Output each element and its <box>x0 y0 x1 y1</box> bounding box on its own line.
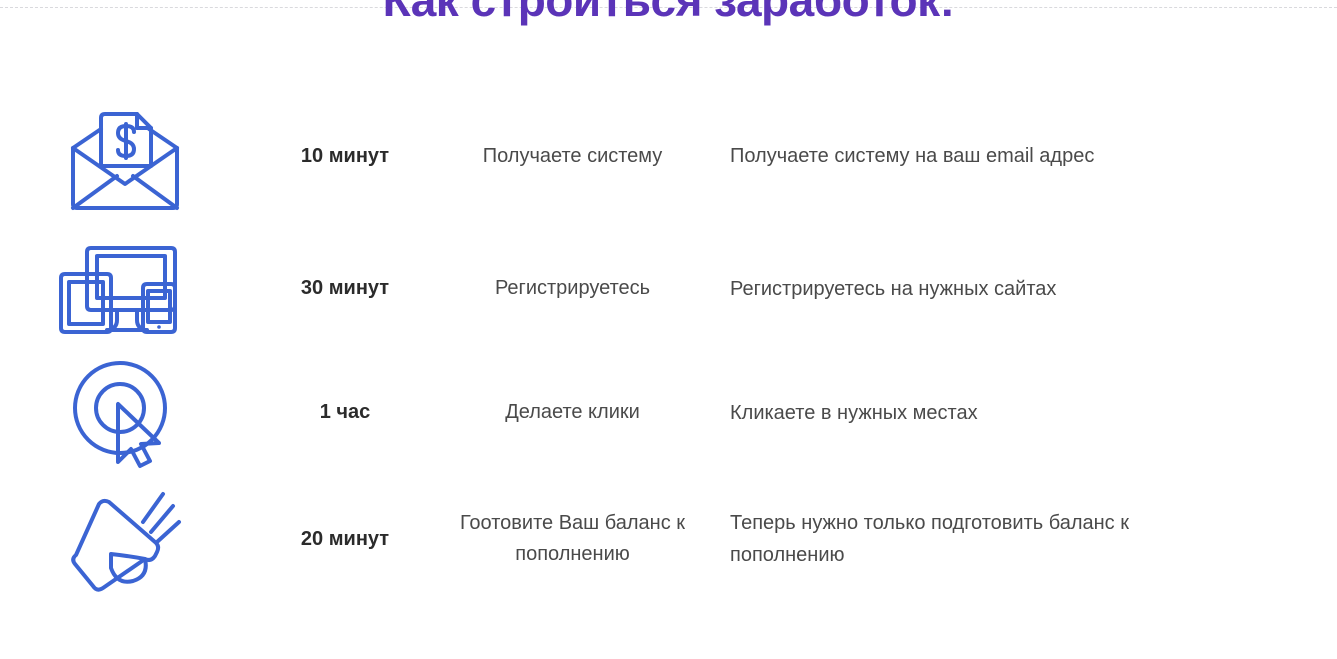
step-row: 30 минут Регистрируетесь Регистрируетесь… <box>0 226 1337 351</box>
step-description: Получаете систему на ваш email адрес <box>705 140 1337 172</box>
step-duration: 30 минут <box>250 275 440 302</box>
cursor-click-target-icon <box>0 354 250 472</box>
step-duration: 10 минут <box>250 143 440 170</box>
step-duration: 20 минут <box>250 526 440 553</box>
envelope-dollar-document-icon <box>0 96 250 216</box>
earnings-steps-list: 10 минут Получаете систему Получаете сис… <box>0 86 1337 604</box>
step-label: Гоотовите Ваш баланс к пополнению <box>440 508 705 570</box>
step-description: Кликаете в нужных местах <box>705 397 1337 429</box>
step-row: 1 час Делаете клики Кликаете в нужных ме… <box>0 351 1337 474</box>
step-description: Теперь нужно только подготовить баланс к… <box>705 507 1265 571</box>
step-row: 20 минут Гоотовите Ваш баланс к пополнен… <box>0 474 1337 604</box>
step-label: Делаете клики <box>440 397 705 428</box>
step-duration: 1 час <box>250 399 440 426</box>
page-title: Как строиться заработок: <box>0 0 1337 30</box>
step-row: 10 минут Получаете систему Получаете сис… <box>0 86 1337 226</box>
step-label: Получаете систему <box>440 141 705 172</box>
step-description: Регистрируетесь на нужных сайтах <box>705 273 1337 305</box>
step-label: Регистрируетесь <box>440 273 705 304</box>
multi-device-monitor-tablet-phone-icon <box>0 234 250 344</box>
megaphone-announcement-icon <box>0 480 250 598</box>
